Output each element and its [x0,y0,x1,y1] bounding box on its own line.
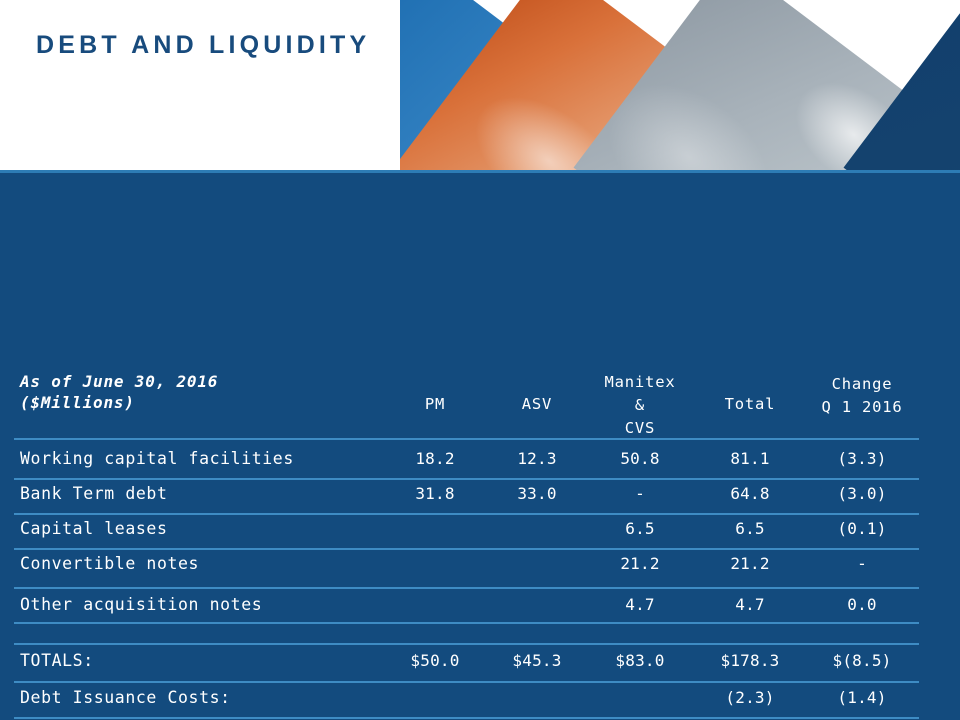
table-cell-change: (0.1) [812,519,912,538]
table-row-label: Other acquisition notes [20,595,262,614]
table-cell-asv: 33.0 [487,484,587,503]
table-cell-mcvs: - [590,484,690,503]
table-cell-total: 4.7 [700,595,800,614]
table-row-divider [14,513,919,515]
table-cell-total: 64.8 [700,484,800,503]
table-cell-pm: $50.0 [385,651,485,670]
table-row-divider [14,717,919,719]
table-cell-pm: 18.2 [385,449,485,468]
table-row-label: Convertible notes [20,554,199,573]
table-row-label: Debt Issuance Costs: [20,688,231,707]
slide-header: DEBT AND LIQUIDITY [0,0,960,170]
column-header-pm: PM [385,395,485,413]
table-row-divider [14,587,919,589]
table-row-divider [14,548,919,550]
table-cell-total: 21.2 [700,554,800,573]
column-header-total: Total [700,395,800,413]
column-header-manitex-cvs: Manitex & CVS [590,371,690,440]
column-header-asv: ASV [487,395,587,413]
table-cell-change: (1.4) [812,688,912,707]
table-cell-change: - [812,554,912,573]
table-row-divider [14,681,919,683]
table-cell-total: $178.3 [700,651,800,670]
header-photo-collage [400,0,960,170]
table-cell-asv: $45.3 [487,651,587,670]
table-cell-total: 6.5 [700,519,800,538]
table-cell-change: 0.0 [812,595,912,614]
table-row-label: Capital leases [20,519,167,538]
table-cell-mcvs: 50.8 [590,449,690,468]
debt-table-panel: As of June 30, 2016 ($Millions) PM ASV M… [0,170,960,720]
table-cell-change: (3.0) [812,484,912,503]
slide: DEBT AND LIQUIDITY As of June 30, 2016 (… [0,0,960,720]
table-row-label: TOTALS: [20,651,94,670]
table-cell-mcvs: 4.7 [590,595,690,614]
table-cell-total: (2.3) [700,688,800,707]
table-stub-header: As of June 30, 2016 ($Millions) [20,371,218,413]
table-row-label: Working capital facilities [20,449,294,468]
table-cell-change: $(8.5) [812,651,912,670]
table-cell-mcvs: 21.2 [590,554,690,573]
page-title: DEBT AND LIQUIDITY [36,31,370,60]
table-cell-mcvs: 6.5 [590,519,690,538]
table-row-divider [14,643,919,645]
table-row-divider [14,438,919,440]
table-row-divider [14,478,919,480]
table-cell-change: (3.3) [812,449,912,468]
table-row-label: Bank Term debt [20,484,167,503]
table-cell-pm: 31.8 [385,484,485,503]
table-cell-mcvs: $83.0 [590,651,690,670]
table-cell-total: 81.1 [700,449,800,468]
column-header-change: Change Q 1 2016 [812,373,912,419]
table-cell-asv: 12.3 [487,449,587,468]
table-row-divider [14,622,919,624]
